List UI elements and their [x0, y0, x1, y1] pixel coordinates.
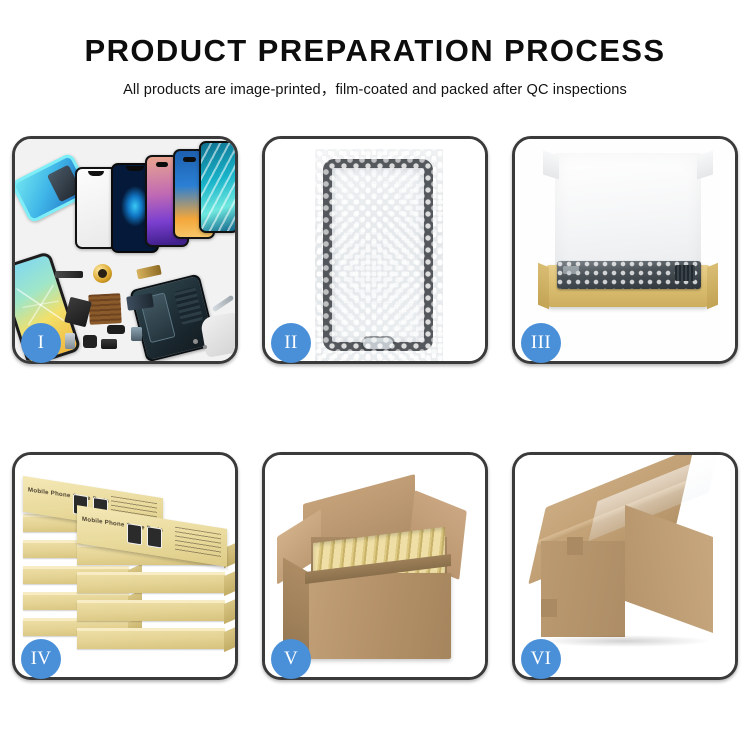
page-subtitle: All products are image-printed，film-coat… [0, 78, 750, 99]
step-badge-1: I [21, 323, 61, 363]
phone-glass-icon [323, 159, 433, 351]
camera-module-icon [83, 335, 97, 348]
teal-display-icon [199, 141, 235, 233]
step-panel-2[interactable]: II [262, 136, 488, 364]
carton-side-icon [625, 505, 713, 633]
kraft-box-icon [77, 629, 225, 649]
step-panel-4[interactable]: Mobile Phone Spare Parts Mobile Phone Sp… [12, 452, 238, 680]
carton-body-icon [305, 573, 451, 659]
page-header: PRODUCT PREPARATION PROCESS All products… [0, 0, 750, 99]
antenna-part-icon [55, 271, 83, 278]
step-badge-6: VI [521, 639, 561, 679]
carton-front-icon [541, 541, 625, 637]
box-phone-image-icon [127, 523, 142, 545]
kraft-box-icon [77, 573, 225, 593]
step-panel-3[interactable]: III [512, 136, 738, 364]
carton-shadow [539, 635, 709, 647]
vibration-motor-icon [93, 264, 112, 283]
speaker-part-icon [107, 325, 125, 334]
tweezers-icon [212, 295, 235, 313]
flex-board-icon [88, 293, 122, 325]
carton-handle-icon [541, 599, 557, 617]
box-spec-lines-icon [175, 527, 221, 560]
screw-icon [203, 345, 207, 349]
box-stack: Mobile Phone Spare Parts Mobile Phone Sp… [21, 471, 231, 667]
step-badge-4: IV [21, 639, 61, 679]
gold-connector-icon [136, 265, 162, 280]
packed-screen-icon [557, 261, 701, 289]
product-preparation-page: PRODUCT PREPARATION PROCESS All products… [0, 0, 750, 750]
step-badge-2: II [271, 323, 311, 363]
step-panel-6[interactable]: VI [512, 452, 738, 680]
step-panel-5[interactable]: V [262, 452, 488, 680]
hand-icon [200, 312, 235, 358]
flex-cable-left-icon [64, 297, 92, 328]
process-steps-grid: I II III [12, 136, 738, 680]
step-badge-5: V [271, 639, 311, 679]
kraft-box-icon [77, 601, 225, 621]
page-title: PRODUCT PREPARATION PROCESS [0, 34, 750, 67]
box-phone-image-icon [147, 526, 162, 548]
screw-icon [193, 339, 198, 344]
step-badge-3: III [521, 323, 561, 363]
step-panel-1[interactable]: I [12, 136, 238, 364]
battery-part-icon [131, 327, 142, 341]
sim-tray-icon [65, 333, 75, 349]
metal-plate-icon [101, 339, 117, 349]
